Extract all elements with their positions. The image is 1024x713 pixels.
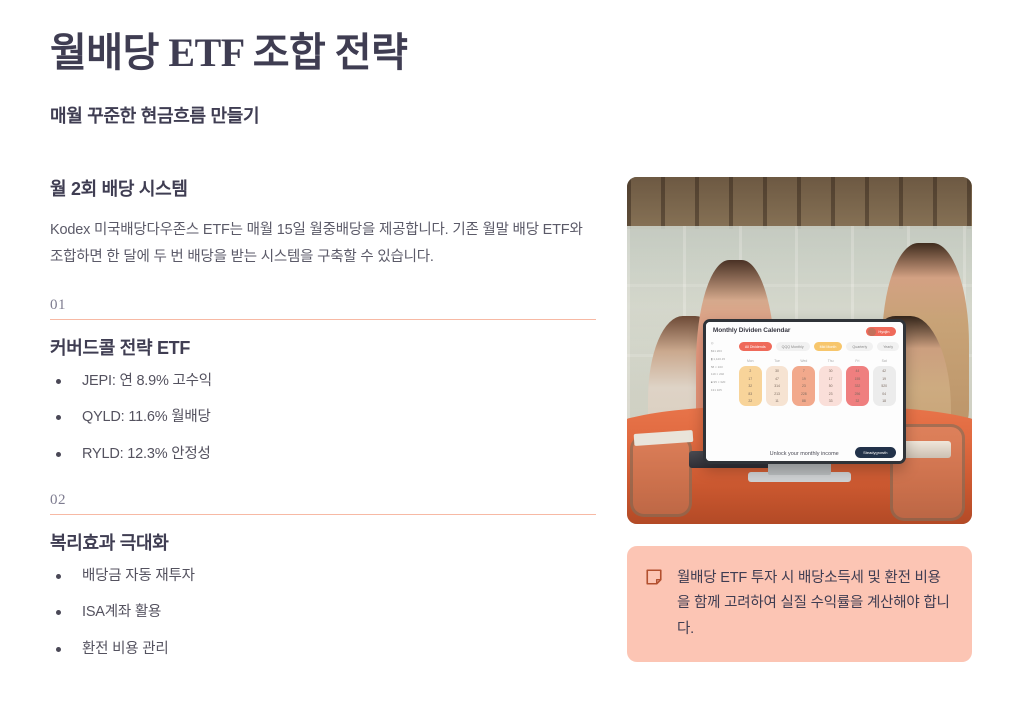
calendar-cell: 18 [882, 399, 886, 403]
calendar-columns: 217328322 304731421311 7192322888 301750… [739, 366, 896, 406]
header: 월배당 ETF 조합 전략 매월 꾸준한 현금흐름 만들기 [50, 30, 650, 128]
calendar-cell: 332 [855, 384, 861, 388]
calendar-cell: 33 [829, 399, 833, 403]
sidebar-metric: 119 × 202 [711, 371, 733, 379]
calendar-cell: 22 [748, 399, 752, 403]
day-header: Tue [766, 359, 789, 363]
sidebar-metric: 58 × 103 [711, 364, 733, 372]
calendar-cell: 30 [775, 369, 779, 373]
day-header: Fri [846, 359, 869, 363]
section-bullet-list: 배당금 자동 재투자 ISA계좌 활용 환전 비용 관리 [50, 565, 596, 661]
calendar-cell: 314 [774, 384, 780, 388]
page-title: 월배당 ETF 조합 전략 [50, 30, 650, 76]
bullet-dot-icon [56, 574, 61, 579]
calendar-cell: 32 [856, 399, 860, 403]
bullet-dot-icon [56, 379, 61, 384]
dashboard-tabs: All Dividends QQQ Monthly Mid Month Quar… [739, 342, 896, 351]
calendar-cell: 228 [801, 392, 807, 396]
calendar-cell: 256 [855, 392, 861, 396]
sidebar-metric: ▮ 1,120.15 [711, 356, 733, 364]
calendar-cell: 04 [882, 392, 886, 396]
avatar-label: Hyojin [878, 329, 889, 334]
list-item: 배당금 자동 재투자 [50, 565, 596, 588]
dashboard-cta-button: Steadygrowth [855, 447, 895, 458]
day-header: Thu [819, 359, 842, 363]
tab-mid-month: Mid Month [814, 342, 843, 351]
dashboard-screen: Monthly Dividen Calendar Hyojin ◎ $31 20… [706, 322, 903, 461]
calendar-cell: 44 [856, 369, 860, 373]
calendar-cell: 30 [829, 369, 833, 373]
photo-scene-background: Monthly Dividen Calendar Hyojin ◎ $31 20… [627, 177, 972, 524]
tab-quarterly: Quarterly [846, 342, 873, 351]
calendar-day-headers: Mon Tue Wed Thu Fri Sat [739, 359, 896, 363]
sidebar-metric: ■ 95 × 320 [711, 379, 733, 387]
calendar-cell: 32 [748, 384, 752, 388]
dashboard-account: Hyojin [866, 327, 895, 336]
ceiling-beams [627, 177, 972, 229]
list-item: QYLD: 11.6% 월배당 [50, 406, 596, 429]
calendar-cell: 23 [829, 392, 833, 396]
calendar-cell: 11 [775, 399, 779, 403]
calendar-cell: 2 [749, 369, 751, 373]
slide-page: 월배당 ETF 조합 전략 매월 꾸준한 현금흐름 만들기 월 2회 배당 시스… [0, 0, 1024, 713]
bullet-dot-icon [56, 610, 61, 615]
calendar-cell: 17 [829, 377, 833, 381]
calendar-cell: 50 [829, 384, 833, 388]
list-item: 환전 비용 관리 [50, 638, 596, 661]
office-meeting-photo: Monthly Dividen Calendar Hyojin ◎ $31 20… [627, 177, 972, 524]
bullet-dot-icon [56, 452, 61, 457]
calendar-cell: 83 [748, 392, 752, 396]
calendar-cell: 17 [748, 377, 752, 381]
day-header: Sat [873, 359, 896, 363]
list-item: RYLD: 12.3% 안정성 [50, 443, 596, 466]
left-content-column: 월 2회 배당 시스템 Kodex 미국배당다우존스 ETF는 매월 15일 월… [50, 175, 596, 674]
tab-all-dividends: All Dividends [739, 342, 772, 351]
tab-yearly: Yearly [877, 342, 899, 351]
calendar-column: 42195200418 [873, 366, 896, 406]
list-item-label: JEPI: 연 8.9% 고수익 [82, 373, 212, 389]
calendar-cell: 42 [882, 369, 886, 373]
sidebar-metric: 131 105 [711, 387, 733, 395]
calendar-column: 304731421311 [766, 366, 789, 406]
chair-left [630, 435, 691, 517]
numbered-section-02: 02 복리효과 극대화 배당금 자동 재투자 ISA계좌 활용 환전 비용 관리 [50, 492, 596, 661]
tab-auto-pay: Auto Pay [903, 342, 905, 351]
calendar-column: 7192322888 [792, 366, 815, 406]
list-item-label: 환전 비용 관리 [82, 641, 169, 657]
page-subtitle: 매월 꾸준한 현금흐름 만들기 [50, 102, 650, 128]
calendar-cell: 520 [881, 384, 887, 388]
section-divider [50, 514, 596, 516]
dashboard-sidebar: ◎ $31 203 ▮ 1,120.15 58 × 103 119 × 202 … [711, 340, 733, 395]
calendar-cell: 47 [775, 377, 779, 381]
avatar-pill: Hyojin [866, 327, 895, 336]
bullet-dot-icon [56, 647, 61, 652]
intro-heading: 월 2회 배당 시스템 [50, 175, 596, 201]
list-item-label: QYLD: 11.6% 월배당 [82, 409, 211, 425]
calendar-column: 217328322 [739, 366, 762, 406]
calendar-cell: 213 [774, 392, 780, 396]
day-header: Wed [792, 359, 815, 363]
tab-qqq-monthly: QQQ Monthly [776, 342, 810, 351]
monitor: Monthly Dividen Calendar Hyojin ◎ $31 20… [703, 319, 906, 464]
section-number: 02 [50, 492, 596, 514]
right-media-column: Monthly Dividen Calendar Hyojin ◎ $31 20… [627, 177, 972, 524]
list-item: ISA계좌 활용 [50, 601, 596, 624]
list-item-label: 배당금 자동 재투자 [82, 568, 195, 584]
calendar-cell: 23 [802, 384, 806, 388]
section-number: 01 [50, 297, 596, 319]
sticky-note-icon [645, 568, 663, 591]
calendar-cell: 19 [882, 377, 886, 381]
calendar-cell: 88 [802, 399, 806, 403]
day-header: Mon [739, 359, 762, 363]
section-title: 복리효과 극대화 [50, 529, 596, 555]
calendar-column: 4415533225632 [846, 366, 869, 406]
list-item: JEPI: 연 8.9% 고수익 [50, 370, 596, 393]
list-item-label: RYLD: 12.3% 안정성 [82, 446, 211, 462]
calendar-cell: 155 [855, 377, 861, 381]
note-callout: 월배당 ETF 투자 시 배당소득세 및 환전 비용을 함께 고려하여 실질 수… [627, 546, 972, 662]
section-title: 커버드콜 전략 ETF [50, 334, 596, 360]
section-bullet-list: JEPI: 연 8.9% 고수익 QYLD: 11.6% 월배당 RYLD: 1… [50, 370, 596, 466]
avatar [868, 328, 876, 336]
section-divider [50, 319, 596, 321]
calendar-cell: 19 [802, 377, 806, 381]
list-item-label: ISA계좌 활용 [82, 604, 161, 620]
sidebar-metric: $31 203 [711, 348, 733, 356]
numbered-section-01: 01 커버드콜 전략 ETF JEPI: 연 8.9% 고수익 QYLD: 11… [50, 297, 596, 466]
sidebar-metric: ◎ [711, 340, 733, 348]
callout-text: 월배당 ETF 투자 시 배당소득세 및 환전 비용을 함께 고려하여 실질 수… [677, 566, 950, 642]
intro-paragraph: Kodex 미국배당다우존스 ETF는 매월 15일 월중배당을 제공합니다. … [50, 217, 596, 271]
calendar-cell: 7 [803, 369, 805, 373]
calendar-column: 3017502333 [819, 366, 842, 406]
bullet-dot-icon [56, 415, 61, 420]
